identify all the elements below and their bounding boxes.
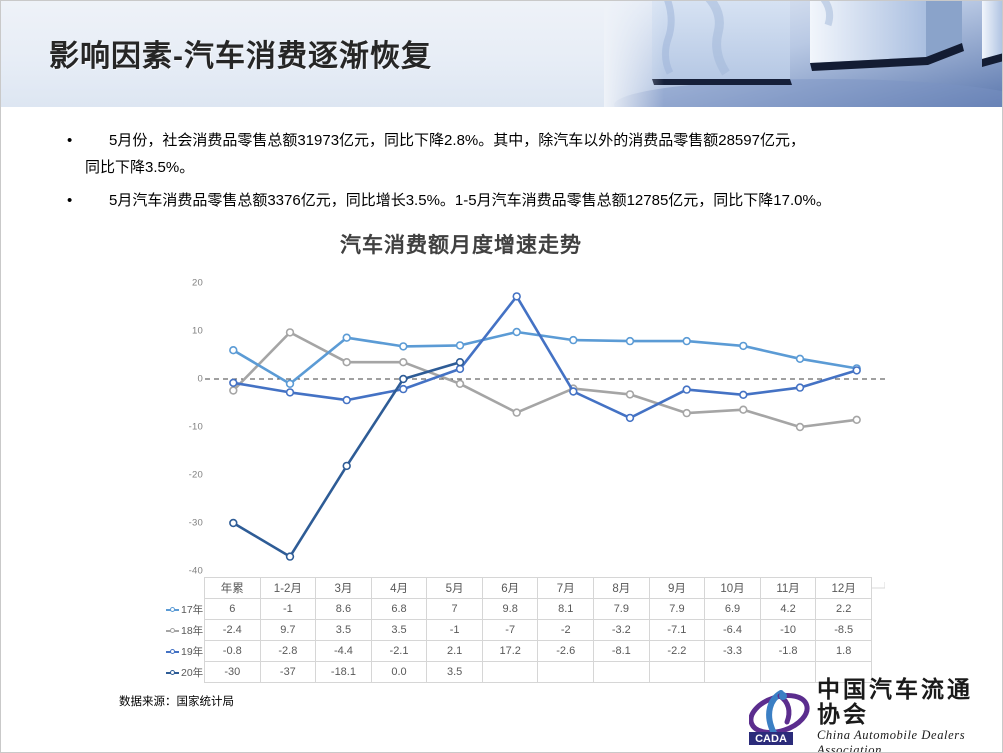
series-line bbox=[233, 362, 460, 556]
logo-abbr-text: CADA bbox=[755, 733, 787, 745]
table-cell: -4.4 bbox=[316, 641, 372, 662]
table-cell: 3.5 bbox=[316, 620, 372, 641]
data-point-marker bbox=[287, 389, 294, 396]
table-cell bbox=[594, 662, 650, 683]
table-cell: 8.1 bbox=[538, 599, 594, 620]
legend-marker-icon bbox=[166, 626, 179, 635]
legend-label: 17年 bbox=[181, 602, 203, 617]
bullet-line: 5月汽车消费品零售总额3376亿元，同比增长3.5%。1-5月汽车消费品零售总额… bbox=[85, 187, 963, 214]
table-cell: -7 bbox=[482, 620, 538, 641]
table-cell: 7.9 bbox=[649, 599, 705, 620]
table-cell: -8.5 bbox=[816, 620, 872, 641]
table-cell: 0.0 bbox=[371, 662, 427, 683]
data-point-marker bbox=[230, 379, 237, 386]
table-cell bbox=[705, 662, 761, 683]
table-cell: 6.9 bbox=[705, 599, 761, 620]
legend-label: 19年 bbox=[181, 644, 203, 659]
data-point-marker bbox=[457, 342, 464, 349]
cada-logo: CADA 中国汽车流通协会 China Automobile Dealers A… bbox=[749, 689, 997, 747]
bullet-item: • 5月汽车消费品零售总额3376亿元，同比增长3.5%。1-5月汽车消费品零售… bbox=[63, 187, 963, 214]
logo-chinese-name: 中国汽车流通协会 bbox=[817, 677, 997, 728]
table-column-header: 年累 bbox=[205, 578, 261, 599]
line-chart-svg bbox=[205, 265, 885, 589]
chart-legend: 17年18年19年20年 bbox=[166, 599, 204, 683]
table-cell: -10 bbox=[760, 620, 816, 641]
table-cell: -1 bbox=[260, 599, 316, 620]
table-row: -0.8-2.8-4.4-2.12.117.2-2.6-8.1-2.2-3.3-… bbox=[205, 641, 872, 662]
data-point-marker bbox=[797, 424, 804, 431]
chart-container: 汽车消费额月度增速走势 20100-10-20-30-40 bbox=[151, 229, 911, 589]
table-cell: 17.2 bbox=[482, 641, 538, 662]
data-point-marker bbox=[513, 409, 520, 416]
bullet-line: 5月份，社会消费品零售总额31973亿元，同比下降2.8%。其中，除汽车以外的消… bbox=[85, 127, 963, 154]
table-column-header: 3月 bbox=[316, 578, 372, 599]
source-note: 数据来源：国家统计局 bbox=[119, 693, 234, 709]
cada-emblem-icon: CADA bbox=[749, 690, 811, 746]
data-point-marker bbox=[683, 410, 690, 417]
plot-area bbox=[205, 265, 885, 589]
data-table: 年累1-2月3月4月5月6月7月8月9月10月11月12月 6-18.66.87… bbox=[204, 577, 872, 683]
table-cell: -3.2 bbox=[594, 620, 650, 641]
table-cell: -8.1 bbox=[594, 641, 650, 662]
table-head: 年累1-2月3月4月5月6月7月8月9月10月11月12月 bbox=[205, 578, 872, 599]
table-cell: -1.8 bbox=[760, 641, 816, 662]
y-axis-tick-label: -40 bbox=[169, 566, 203, 577]
table-cell: -3.3 bbox=[705, 641, 761, 662]
logo-text: 中国汽车流通协会 China Automobile Dealers Associ… bbox=[817, 677, 997, 753]
table-column-header: 11月 bbox=[760, 578, 816, 599]
header-divider bbox=[1, 107, 1003, 109]
data-point-marker bbox=[627, 415, 634, 422]
table-cell: -30 bbox=[205, 662, 261, 683]
data-point-marker bbox=[343, 463, 350, 470]
table-cell: -2.2 bbox=[649, 641, 705, 662]
table-cell: -2.8 bbox=[260, 641, 316, 662]
data-point-marker bbox=[513, 293, 520, 300]
table-column-header: 12月 bbox=[816, 578, 872, 599]
table-column-header: 8月 bbox=[594, 578, 650, 599]
data-point-marker bbox=[400, 386, 407, 393]
page-title: 影响因素-汽车消费逐渐恢复 bbox=[49, 31, 432, 75]
data-table-container: 17年18年19年20年 年累1-2月3月4月5月6月7月8月9月10月11月1… bbox=[204, 577, 872, 683]
table-column-header: 4月 bbox=[371, 578, 427, 599]
legend-item-18年[interactable]: 18年 bbox=[166, 620, 204, 641]
table-cell: 3.5 bbox=[371, 620, 427, 641]
logo-mark-icon: CADA bbox=[749, 690, 811, 746]
data-point-marker bbox=[740, 406, 747, 413]
series-17年 bbox=[230, 329, 860, 388]
table-body: 6-18.66.879.88.17.97.96.94.22.2-2.49.73.… bbox=[205, 599, 872, 683]
slide-header: 影响因素-汽车消费逐渐恢复 bbox=[1, 1, 1003, 107]
cubes-graphic bbox=[604, 1, 1003, 107]
table-cell bbox=[482, 662, 538, 683]
table-cell bbox=[760, 662, 816, 683]
table-header-row: 年累1-2月3月4月5月6月7月8月9月10月11月12月 bbox=[205, 578, 872, 599]
table-cell: 1.8 bbox=[816, 641, 872, 662]
y-axis-tick-label: -10 bbox=[169, 422, 203, 433]
table-cell: 9.8 bbox=[482, 599, 538, 620]
table-cell: -18.1 bbox=[316, 662, 372, 683]
table-cell: 2.2 bbox=[816, 599, 872, 620]
legend-item-20年[interactable]: 20年 bbox=[166, 662, 204, 683]
table-cell: -6.4 bbox=[705, 620, 761, 641]
data-point-marker bbox=[627, 391, 634, 398]
data-point-marker bbox=[287, 380, 294, 387]
legend-marker-icon bbox=[166, 647, 179, 656]
data-point-marker bbox=[740, 391, 747, 398]
data-point-marker bbox=[287, 329, 294, 336]
table-row: -30-37-18.10.03.5 bbox=[205, 662, 872, 683]
data-point-marker bbox=[740, 343, 747, 350]
y-axis-tick-label: -20 bbox=[169, 470, 203, 481]
data-point-marker bbox=[627, 338, 634, 345]
table-cell: -2 bbox=[538, 620, 594, 641]
chart-plot: 20100-10-20-30-40 bbox=[151, 265, 911, 589]
table-cell: 2.1 bbox=[427, 641, 483, 662]
table-cell bbox=[538, 662, 594, 683]
table-cell: 9.7 bbox=[260, 620, 316, 641]
table-cell: -7.1 bbox=[649, 620, 705, 641]
y-axis-tick-label: 10 bbox=[169, 326, 203, 337]
bullet-line: 同比下降3.5%。 bbox=[85, 154, 963, 181]
data-point-marker bbox=[230, 387, 237, 394]
legend-item-17年[interactable]: 17年 bbox=[166, 599, 204, 620]
table-row: 6-18.66.879.88.17.97.96.94.22.2 bbox=[205, 599, 872, 620]
data-point-marker bbox=[287, 553, 294, 560]
bullet-body: 5月份，社会消费品零售总额31973亿元，同比下降2.8%。其中，除汽车以外的消… bbox=[85, 127, 963, 181]
table-cell: 7.9 bbox=[594, 599, 650, 620]
table-cell: -37 bbox=[260, 662, 316, 683]
bullet-marker: • bbox=[63, 127, 85, 154]
table-cell: -0.8 bbox=[205, 641, 261, 662]
table-column-header: 6月 bbox=[482, 578, 538, 599]
bullet-item: • 5月份，社会消费品零售总额31973亿元，同比下降2.8%。其中，除汽车以外… bbox=[63, 127, 963, 181]
table-cell: 6.8 bbox=[371, 599, 427, 620]
slide-canvas: 影响因素-汽车消费逐渐恢复 • 5月份，社会消费品零售总额31973亿元，同比下… bbox=[0, 0, 1003, 753]
table-cell: -2.1 bbox=[371, 641, 427, 662]
series-line bbox=[233, 332, 856, 427]
table-cell: -2.6 bbox=[538, 641, 594, 662]
data-point-marker bbox=[400, 376, 407, 383]
chart-title: 汽车消费额月度增速走势 bbox=[151, 229, 771, 259]
data-point-marker bbox=[457, 380, 464, 387]
data-point-marker bbox=[343, 359, 350, 366]
data-point-marker bbox=[797, 384, 804, 391]
table-cell: 3.5 bbox=[427, 662, 483, 683]
table-cell: 6 bbox=[205, 599, 261, 620]
legend-item-19年[interactable]: 19年 bbox=[166, 641, 204, 662]
legend-label: 18年 bbox=[181, 623, 203, 638]
data-point-marker bbox=[853, 416, 860, 423]
table-cell bbox=[649, 662, 705, 683]
data-point-marker bbox=[513, 329, 520, 336]
bullet-list: • 5月份，社会消费品零售总额31973亿元，同比下降2.8%。其中，除汽车以外… bbox=[63, 127, 963, 220]
table-column-header: 7月 bbox=[538, 578, 594, 599]
legend-label: 20年 bbox=[181, 665, 203, 680]
data-point-marker bbox=[457, 359, 464, 366]
table-cell: 7 bbox=[427, 599, 483, 620]
logo-english-name: China Automobile Dealers Association bbox=[817, 728, 997, 753]
data-point-marker bbox=[683, 338, 690, 345]
bullet-marker: • bbox=[63, 187, 85, 214]
y-axis-tick-label: -30 bbox=[169, 518, 203, 529]
y-axis-tick-label: 0 bbox=[169, 374, 203, 385]
header-decorative-cubes-image bbox=[604, 1, 1003, 107]
legend-marker-icon bbox=[166, 668, 179, 677]
table-column-header: 5月 bbox=[427, 578, 483, 599]
data-point-marker bbox=[853, 367, 860, 374]
series-line bbox=[233, 332, 856, 384]
legend-marker-icon bbox=[166, 605, 179, 614]
table-row: -2.49.73.53.5-1-7-2-3.2-7.1-6.4-10-8.5 bbox=[205, 620, 872, 641]
data-point-marker bbox=[797, 355, 804, 362]
data-point-marker bbox=[230, 347, 237, 354]
data-point-marker bbox=[230, 520, 237, 527]
table-cell: 8.6 bbox=[316, 599, 372, 620]
table-column-header: 1-2月 bbox=[260, 578, 316, 599]
table-column-header: 9月 bbox=[649, 578, 705, 599]
data-point-marker bbox=[400, 359, 407, 366]
table-cell: -2.4 bbox=[205, 620, 261, 641]
data-point-marker bbox=[343, 397, 350, 404]
data-point-marker bbox=[570, 388, 577, 395]
data-point-marker bbox=[570, 337, 577, 344]
bullet-body: 5月汽车消费品零售总额3376亿元，同比增长3.5%。1-5月汽车消费品零售总额… bbox=[85, 187, 963, 214]
data-point-marker bbox=[683, 386, 690, 393]
table-cell: 4.2 bbox=[760, 599, 816, 620]
data-point-marker bbox=[457, 366, 464, 373]
y-axis-tick-label: 20 bbox=[169, 278, 203, 289]
table-column-header: 10月 bbox=[705, 578, 761, 599]
data-point-marker bbox=[343, 334, 350, 341]
data-point-marker bbox=[400, 343, 407, 350]
table-cell: -1 bbox=[427, 620, 483, 641]
y-axis-labels: 20100-10-20-30-40 bbox=[161, 265, 203, 589]
